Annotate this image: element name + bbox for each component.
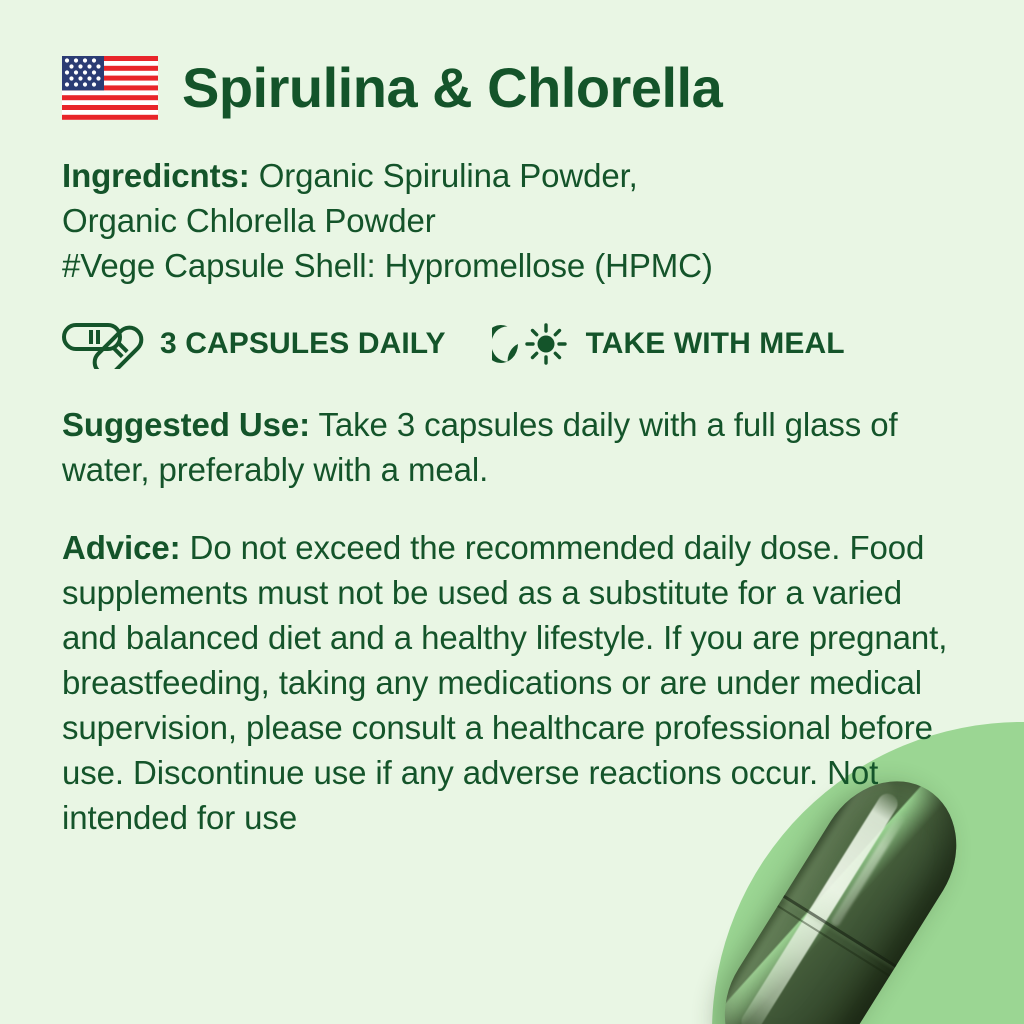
ingredients-line-3: #Vege Capsule Shell: Hypromellose (HPMC) — [62, 244, 964, 289]
label-content: Spirulina & Chlorella Ingredicnts: Organ… — [0, 0, 1024, 841]
capsule-cap-edge — [773, 902, 895, 979]
ingredients-block: Ingredicnts: Organic Spirulina Powder, O… — [62, 154, 964, 289]
ingredients-line-1-text: Organic Spirulina Powder, — [250, 157, 638, 194]
ingredients-line-2: Organic Chlorella Powder — [62, 199, 964, 244]
advice-text: Do not exceed the recommended daily dose… — [62, 529, 947, 835]
title-row: Spirulina & Chlorella — [62, 56, 964, 120]
ingredients-label: Ingredicnts: — [62, 157, 250, 194]
us-flag-icon — [62, 56, 158, 120]
suggested-use-label: Suggested Use: — [62, 406, 310, 443]
two-capsules-icon — [62, 319, 146, 369]
page-title: Spirulina & Chlorella — [182, 60, 722, 116]
ingredients-line-1: Ingredicnts: Organic Spirulina Powder, — [62, 154, 964, 199]
dosage-info-item: 3 CAPSULES DAILY — [62, 319, 446, 369]
meal-label: TAKE WITH MEAL — [586, 327, 845, 361]
advice-block: Advice: Do not exceed the recommended da… — [62, 526, 964, 840]
icon-row: 3 CAPSULES DAILY TAKE WITH — [62, 319, 964, 369]
meal-info-item: TAKE WITH MEAL — [492, 319, 845, 369]
capsule-seam — [779, 892, 901, 970]
moon-and-sun-icon — [492, 319, 572, 369]
suggested-use-block: Suggested Use: Take 3 capsules daily wit… — [62, 403, 964, 493]
dosage-label: 3 CAPSULES DAILY — [160, 327, 446, 361]
advice-label: Advice: — [62, 529, 181, 566]
